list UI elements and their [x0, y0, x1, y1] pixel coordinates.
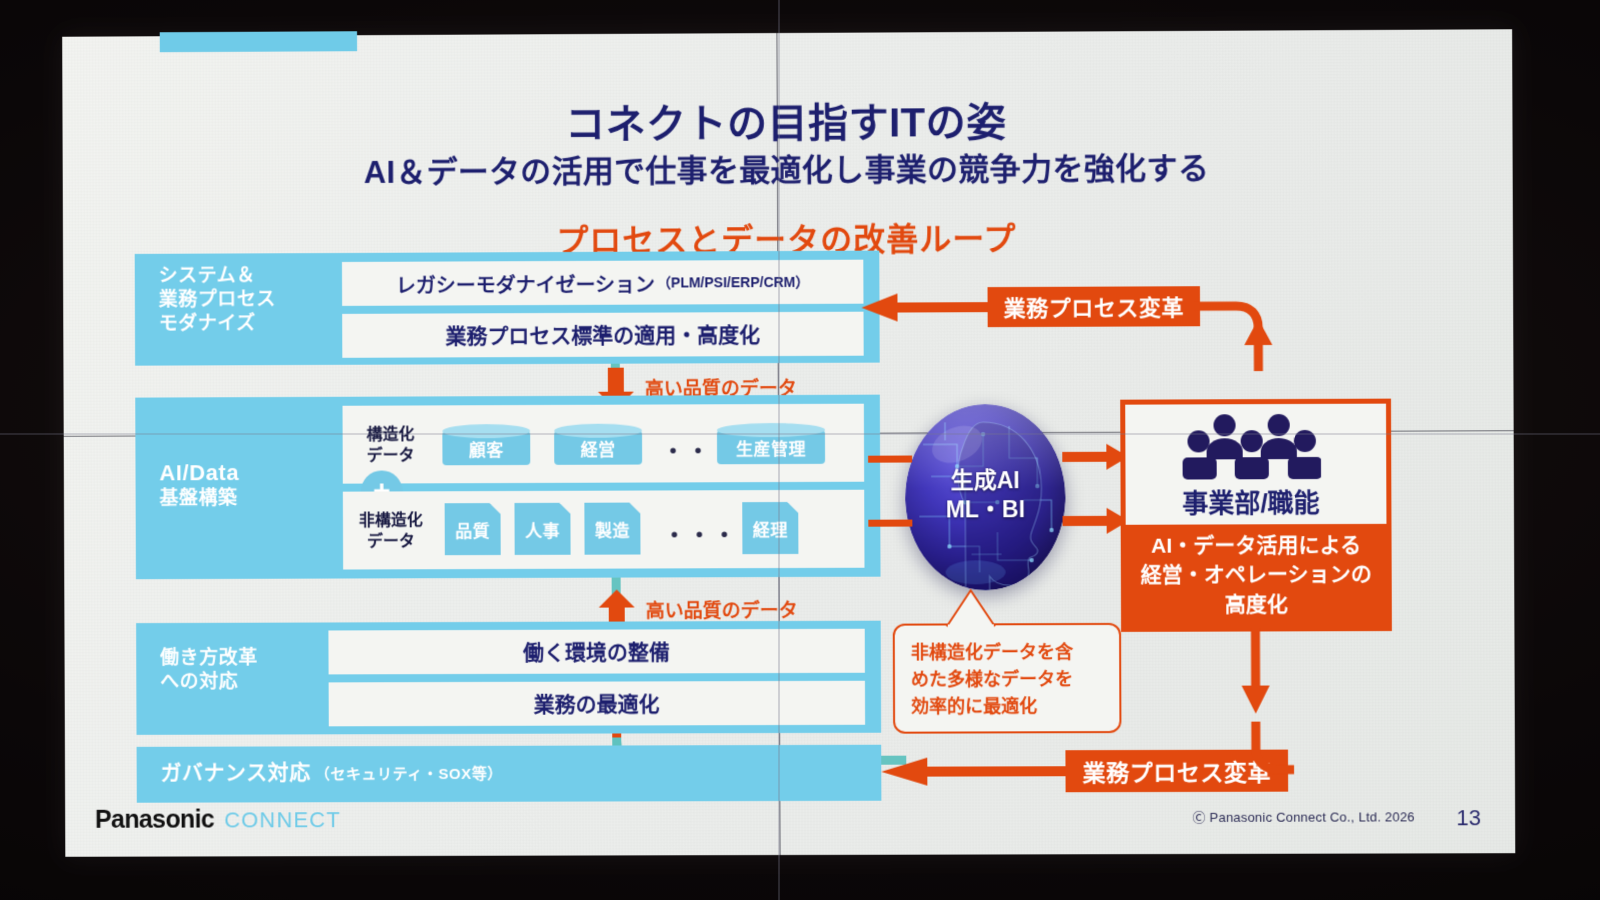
structured-cell-production-label: 生産管理: [736, 434, 806, 459]
row-ai-data-label: AI/Data 基盤構築: [159, 459, 344, 511]
callout-pointer-icon: [945, 588, 997, 628]
callout-line-1: 非構造化データを含: [911, 639, 1103, 667]
copyright-notice: Ⓒ Panasonic Connect Co., Ltd. 2026: [1192, 806, 1414, 826]
callout-bubble: 非構造化データを含 めた多様なデータを 効率的に最適化: [893, 623, 1122, 734]
ai-to-bu-arrow-upper-icon: [1062, 444, 1128, 470]
row-modernize-label-line-1: システム＆: [159, 264, 343, 289]
structured-cell-management-label: 経営: [581, 435, 616, 460]
ai-sphere: 生成AI ML・BI: [905, 404, 1066, 591]
structured-data-label: 構造化 データ: [351, 425, 431, 467]
row-ai-data-label-line-1: AI/Data: [159, 459, 343, 487]
row-ai-data-label-line-2: 基盤構築: [159, 486, 343, 511]
ai-sphere-line-1: 生成AI: [905, 466, 1065, 496]
row-modernize-bar-1-note: （PLM/PSI/ERP/CRM）: [657, 272, 809, 293]
unstructured-data-label-line-2: データ: [345, 532, 437, 553]
structured-cell-production: 生産管理: [717, 430, 825, 464]
row-modernize-label-line-3: モダナイズ: [159, 312, 343, 337]
outcome-line-2: 経営・オペレーションの: [1121, 560, 1392, 590]
structured-cell-customer-label: 顧客: [469, 436, 504, 461]
row-modernize-label-line-2: 業務プロセス: [159, 288, 343, 313]
unstructured-cell-manufacturing-label: 製造: [595, 516, 630, 541]
unstructured-data-label-line-1: 非構造化: [345, 511, 437, 532]
structured-data-label-line-1: 構造化: [351, 425, 431, 446]
row-work-style-bar-1-text: 働く環境の整備: [523, 636, 670, 666]
slide-subtitle: AI＆データの活用で仕事を最適化し事業の競争力を強化する: [63, 142, 1513, 194]
logo-connect-text: CONNECT: [224, 807, 341, 833]
row-governance-label: ガバナンス対応 （セキュリティ・SOX等）: [161, 759, 630, 787]
row-governance-label-text: ガバナンス対応: [161, 760, 311, 787]
transform-top-connector: [1192, 289, 1283, 400]
unstructured-ellipsis: ・・・: [663, 517, 738, 549]
unstructured-cell-quality-label: 品質: [455, 517, 490, 542]
unstructured-data-label: 非構造化 データ: [345, 511, 437, 553]
data-to-ai-arrow-upper-icon: [868, 451, 912, 467]
logo-panasonic-text: Panasonic: [95, 806, 214, 835]
unstructured-cell-hr-label: 人事: [525, 516, 560, 541]
row-work-style-bar-2-text: 業務の最適化: [534, 688, 660, 718]
outcome-line-1: AI・データ活用による: [1121, 531, 1392, 561]
business-unit-outcome-text: AI・データ活用による 経営・オペレーションの 高度化: [1121, 531, 1392, 620]
structured-data-label-line-2: データ: [351, 446, 431, 467]
row-governance-label-note: （セキュリティ・SOX等）: [315, 766, 503, 785]
ai-sphere-text: 生成AI ML・BI: [905, 466, 1065, 526]
callout-line-3: 効率的に最適化: [911, 693, 1103, 721]
row-modernize-bar-1: レガシーモダナイゼーション （PLM/PSI/ERP/CRM）: [342, 260, 864, 306]
people-icon: [1182, 413, 1321, 480]
row-work-style-bar-1: 働く環境の整備: [328, 629, 864, 675]
callout-line-2: めた多様なデータを: [911, 666, 1103, 694]
room-seam-vertical: [778, 0, 780, 900]
transform-label-top: 業務プロセス変革: [988, 286, 1201, 327]
unstructured-cell-accounting-label: 経理: [753, 515, 788, 540]
transform-bottom-arrow-icon: [881, 757, 1071, 786]
business-unit-caption: 事業部/職能: [1121, 483, 1382, 521]
ai-to-bu-arrow-lower-icon: [1062, 508, 1128, 534]
row-modernize-bar-2-text: 業務プロセス標準の適用・高度化: [445, 319, 760, 350]
quality-label-up: 高い品質のデータ: [646, 596, 798, 623]
row-work-style-bar-2: 業務の最適化: [329, 681, 865, 727]
presentation-slide: コネクトの目指すITの姿 AI＆データの活用で仕事を最適化し事業の競争力を強化す…: [62, 29, 1515, 857]
outcome-line-3: 高度化: [1121, 590, 1392, 620]
screenshot-stage: コネクトの目指すITの姿 AI＆データの活用で仕事を最適化し事業の競争力を強化す…: [0, 0, 1600, 900]
transform-bottom-connector: [1233, 627, 1344, 776]
transform-top-arrow-icon: [861, 293, 989, 322]
transform-label-top-text: 業務プロセス変革: [1004, 290, 1184, 323]
top-cyan-accent: [160, 31, 357, 52]
structured-cell-customer: 顧客: [442, 431, 530, 465]
room-seam-horizontal: [0, 433, 1600, 435]
panasonic-connect-logo: Panasonic CONNECT: [95, 805, 341, 835]
row-modernize-bar-2: 業務プロセス標準の適用・高度化: [342, 312, 864, 358]
row-modernize-bar-1-text: レガシーモダナイゼーション: [396, 268, 655, 298]
page-number: 13: [1456, 805, 1481, 831]
unstructured-cell-accounting: 経理: [742, 502, 798, 554]
unstructured-cell-manufacturing: 製造: [584, 503, 640, 555]
unstructured-cell-quality: 品質: [445, 503, 501, 555]
row-modernize-label: システム＆ 業務プロセス モダナイズ: [159, 264, 344, 336]
structured-cell-management: 経営: [554, 431, 642, 465]
ai-sphere-line-2: ML・BI: [905, 496, 1065, 526]
unstructured-cell-hr: 人事: [514, 503, 570, 555]
